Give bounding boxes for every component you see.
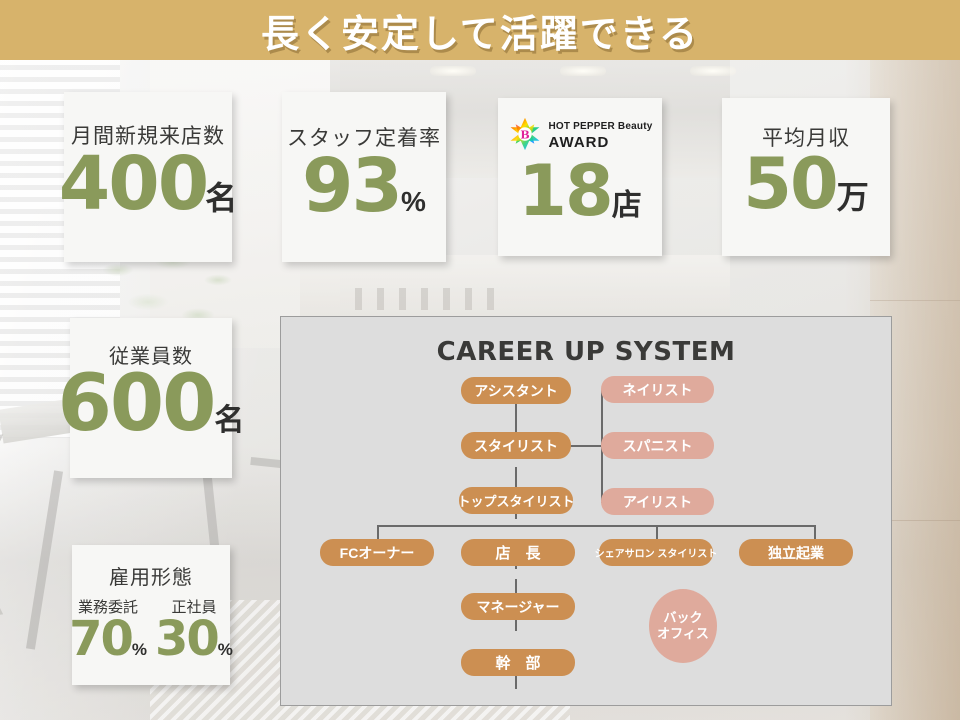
rainbow-star-icon: B (508, 117, 542, 151)
career-node-top-stylist[interactable]: トップスタイリスト (459, 487, 573, 514)
career-node-stylist[interactable]: スタイリスト (461, 432, 571, 459)
career-node-executive[interactable]: 幹 部 (461, 649, 575, 676)
node-label: スタイリスト (474, 436, 558, 456)
node-label: マネージャー (476, 597, 559, 617)
split-number: 70 (69, 617, 132, 661)
stat-unit: 店 (612, 180, 642, 224)
award-logo: B HOT PEPPER Beauty AWARD (508, 116, 653, 153)
stat-unit: 名 (214, 395, 244, 439)
split-number: 30 (155, 617, 218, 661)
node-label: ネイリスト (623, 380, 693, 400)
career-node-eyelist[interactable]: アイリスト (601, 488, 714, 515)
stat-value-row: 93 % (302, 152, 426, 220)
stat-number: 400 (59, 150, 207, 218)
stat-unit: % (401, 186, 426, 218)
stat-label: 雇用形態 (109, 561, 193, 590)
node-label: 幹 部 (495, 652, 540, 673)
career-node-nailist[interactable]: ネイリスト (601, 376, 714, 403)
career-node-back-office[interactable]: バック オフィス (649, 589, 717, 663)
award-text-block: HOT PEPPER Beauty AWARD (549, 116, 653, 153)
slide-canvas: 長く安定して活躍できる 月間新規来店数 400 名 スタッフ定着率 93 % (0, 0, 960, 720)
header-banner: 長く安定して活躍できる (0, 0, 960, 60)
career-node-manager[interactable]: マネージャー (461, 593, 575, 620)
career-node-share-salon-stylist[interactable]: シェアサロン スタイリスト (599, 539, 713, 566)
career-up-system-panel: CAREER UP SYSTEM アシスタント スタイリスト トップスタイリスト… (280, 316, 892, 706)
career-node-assistant[interactable]: アシスタント (461, 377, 571, 404)
employment-split-contract: 業務委託 70 % (69, 596, 147, 661)
award-brand: HOT PEPPER Beauty (549, 121, 653, 132)
stat-value-row: 400 名 (59, 150, 237, 219)
stat-card-award-stores: B HOT PEPPER Beauty AWARD 18 店 (498, 98, 662, 256)
stat-card-average-salary: 平均月収 50 万 (722, 98, 890, 256)
career-node-store-manager[interactable]: 店 長 (461, 539, 575, 566)
career-node-independent[interactable]: 独立起業 (739, 539, 853, 566)
stat-number: 50 (743, 152, 836, 216)
node-label-line1: バック (663, 610, 702, 626)
stat-card-staff-retention: スタッフ定着率 93 % (282, 92, 446, 262)
award-word: AWARD (549, 134, 610, 151)
stat-unit: 名 (205, 173, 237, 219)
node-label: 店 長 (495, 542, 540, 563)
stat-value-row: 50 万 (743, 152, 868, 218)
career-node-spanist[interactable]: スパニスト (601, 432, 714, 459)
stat-value-row: 600 名 (58, 369, 245, 441)
split-unit: % (218, 640, 233, 660)
split-value-row: 70 % (69, 617, 147, 661)
stat-card-employee-count: 従業員数 600 名 (70, 318, 232, 478)
employment-split-fulltime: 正社員 30 % (155, 596, 233, 661)
connector-branch-bus (377, 525, 815, 527)
employment-split: 業務委託 70 % 正社員 30 % (69, 596, 233, 661)
career-panel-title: CAREER UP SYSTEM (281, 337, 891, 367)
stat-card-employment-type: 雇用形態 業務委託 70 % 正社員 30 % (72, 545, 230, 685)
stat-number: 18 (518, 159, 611, 223)
stat-card-monthly-visitors: 月間新規来店数 400 名 (64, 92, 232, 262)
career-node-fc-owner[interactable]: FCオーナー (320, 539, 434, 566)
stat-value-row: 18 店 (518, 159, 641, 224)
stat-number: 93 (302, 152, 401, 220)
banner-title: 長く安定して活躍できる (261, 3, 699, 58)
node-label: FCオーナー (340, 543, 415, 563)
node-label-line2: オフィス (657, 626, 709, 642)
svg-text:B: B (520, 129, 529, 142)
stat-number: 600 (58, 369, 215, 441)
split-unit: % (132, 640, 147, 660)
node-label: トップスタイリスト (458, 491, 575, 510)
node-label: 独立起業 (768, 543, 824, 563)
stat-unit: 万 (837, 172, 869, 218)
node-label: スパニスト (623, 436, 693, 456)
node-label: アイリスト (623, 492, 692, 512)
node-label: シェアサロン スタイリスト (595, 545, 718, 560)
split-value-row: 30 % (155, 617, 233, 661)
node-label: アシスタント (474, 381, 557, 401)
